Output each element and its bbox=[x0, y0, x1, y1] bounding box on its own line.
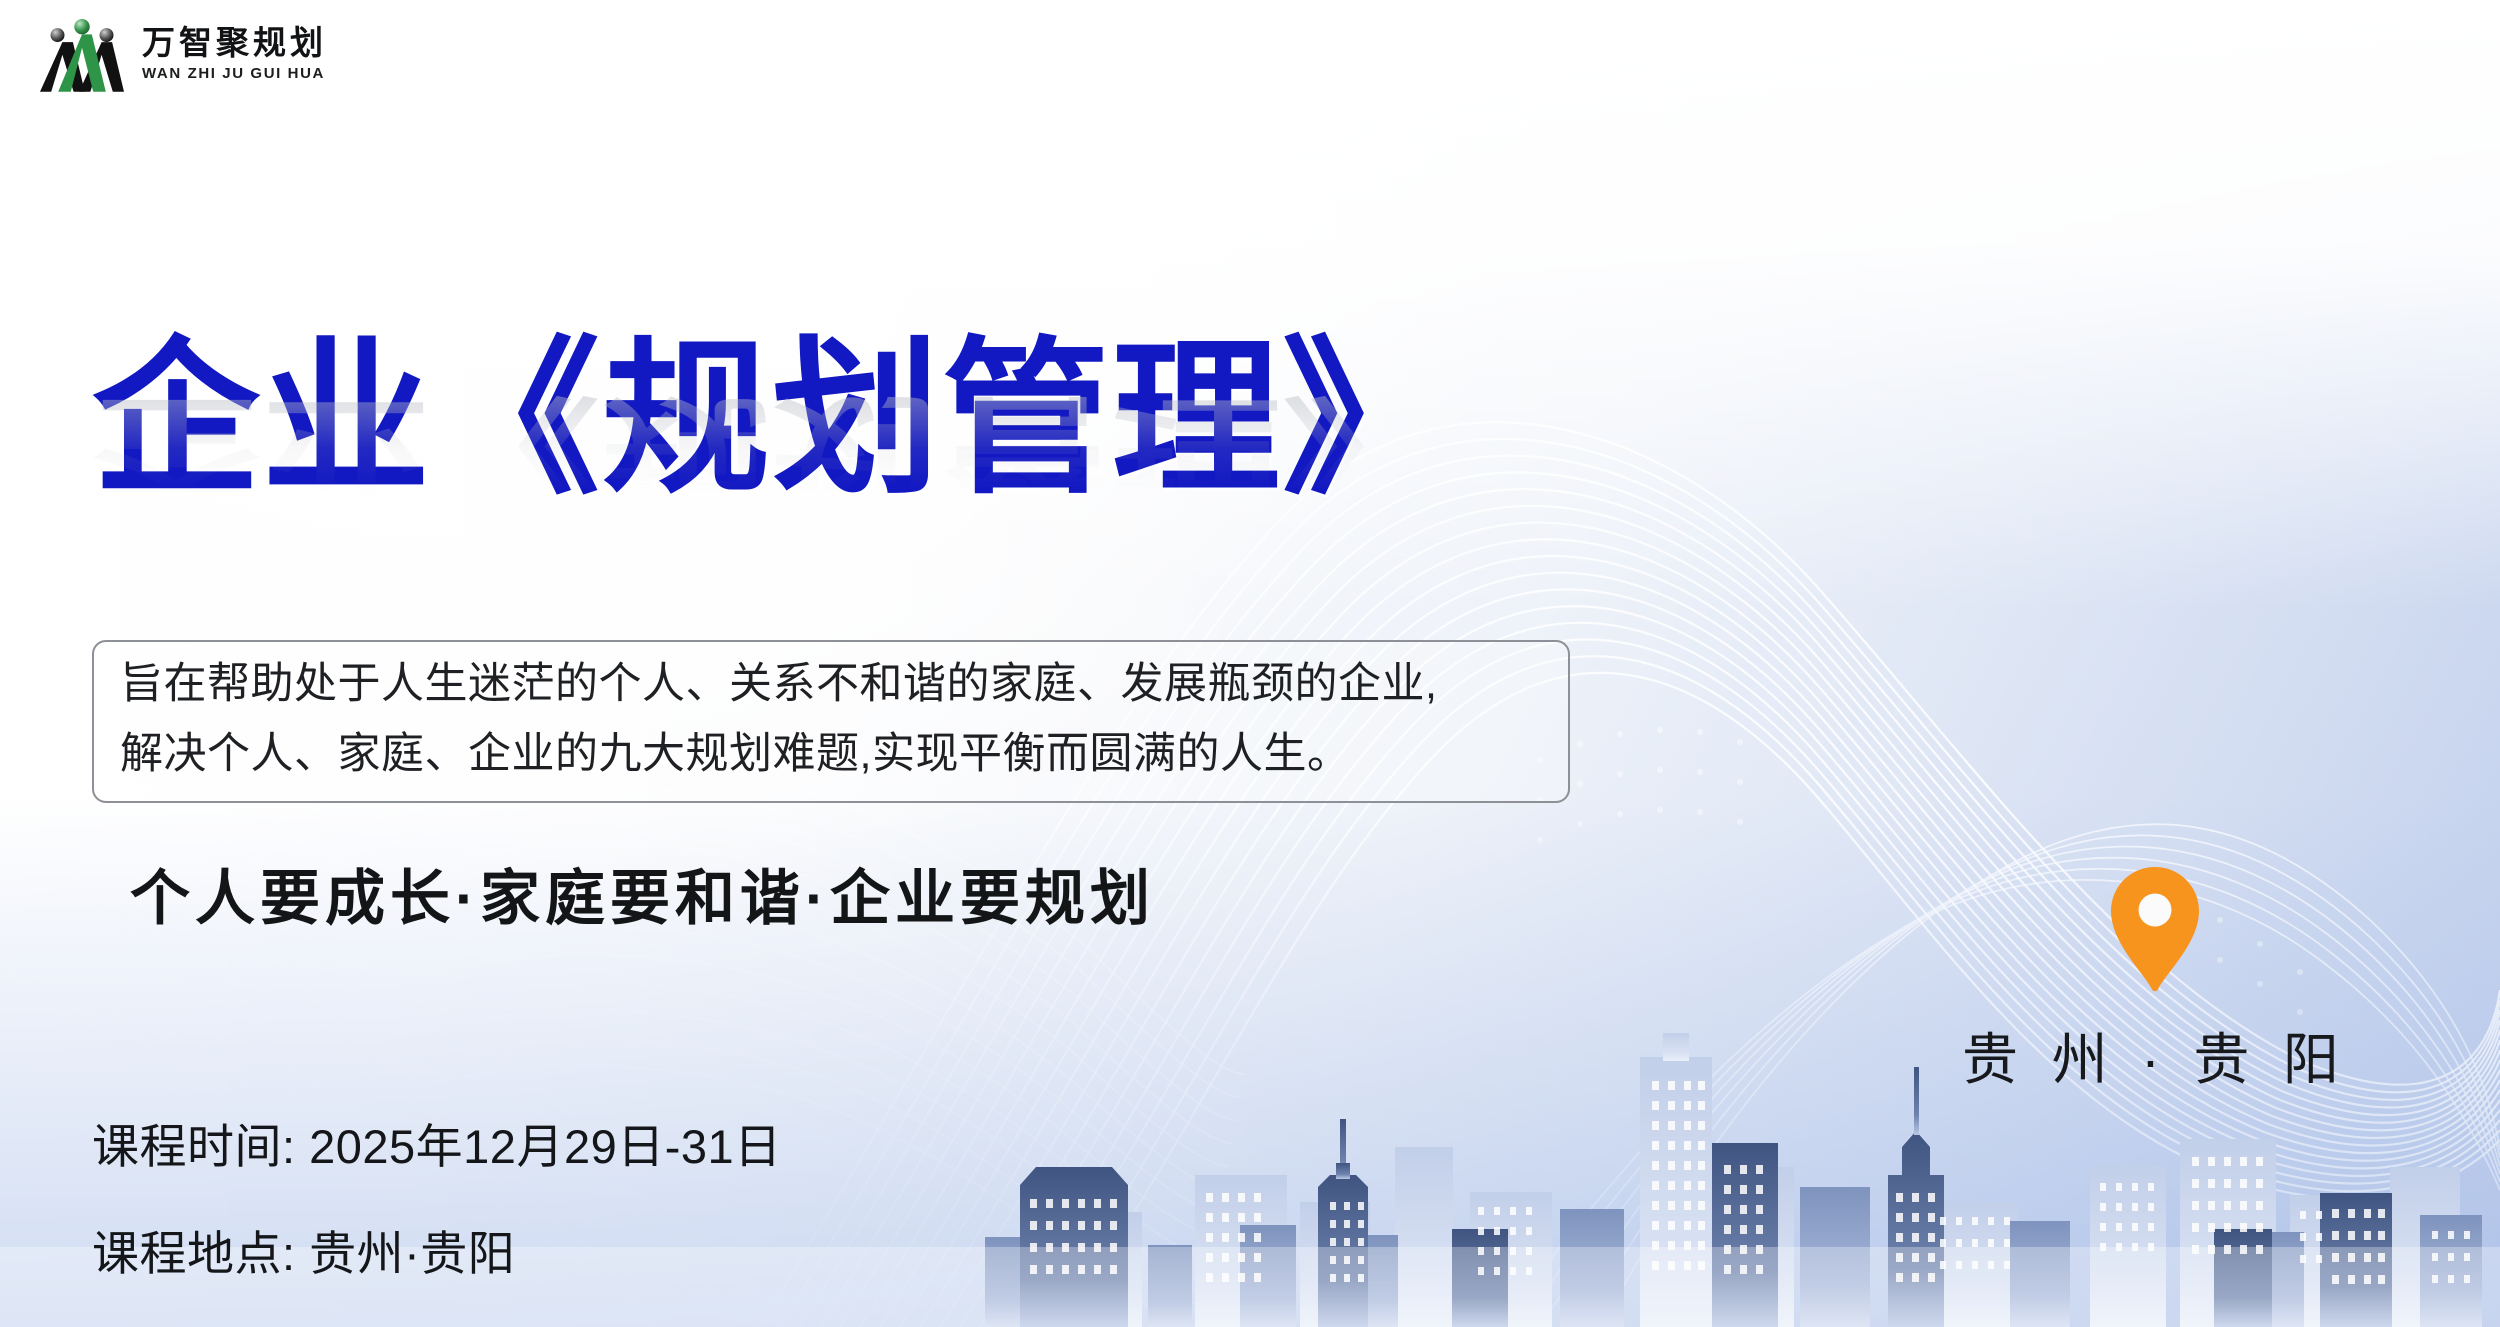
brand-name-cn: 万智聚规划 bbox=[142, 26, 327, 63]
brand-name-en: WAN ZHI JU GUI HUA bbox=[142, 65, 327, 82]
slogan-text: 个人要成长·家庭要和谐·企业要规划 bbox=[130, 850, 1155, 937]
brand-logo[interactable]: 万智聚规划 WAN ZHI JU GUI HUA bbox=[40, 14, 327, 94]
description-line-2: 解决个人、家庭、企业的九大规划难题,实现平衡而圆满的人生。 bbox=[120, 720, 1542, 790]
course-info-block: 课程时间: 2025年12月29日-31日 课程地点: 贵州·贵阳 bbox=[92, 1108, 782, 1284]
poster-canvas: 万智聚规划 WAN ZHI JU GUI HUA 企业《规划管理》 企业《规划管… bbox=[0, 0, 2500, 1327]
location-block: 贵 州 · 贵 阳 bbox=[1955, 865, 2355, 1096]
course-time-row: 课程时间: 2025年12月29日-31日 bbox=[92, 1108, 782, 1177]
description-box: 旨在帮助处于人生迷茫的个人、关系不和谐的家庭、发展瓶颈的企业, 解决个人、家庭、… bbox=[92, 640, 1570, 803]
three-people-logo-icon bbox=[40, 14, 124, 94]
page-title: 企业《规划管理》 bbox=[92, 330, 1652, 508]
description-line-1: 旨在帮助处于人生迷茫的个人、关系不和谐的家庭、发展瓶颈的企业, bbox=[120, 650, 1542, 720]
course-place-row: 课程地点: 贵州·贵阳 bbox=[92, 1215, 782, 1284]
hero-title-block: 企业《规划管理》 企业《规划管理》 bbox=[92, 330, 1652, 676]
map-pin-icon bbox=[2106, 865, 2204, 993]
location-label: 贵 州 · 贵 阳 bbox=[1955, 1015, 2355, 1096]
